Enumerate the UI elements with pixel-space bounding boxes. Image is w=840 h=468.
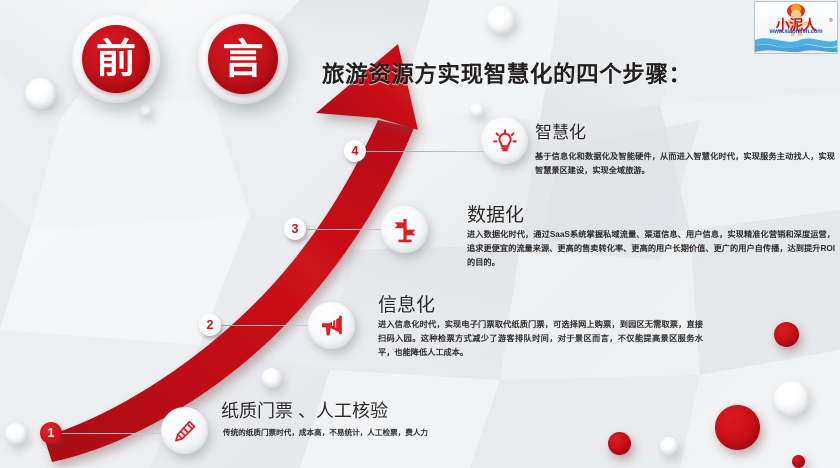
badge-yan-char: 言 [208, 24, 278, 94]
step-title-1: 纸质门票 、人工核验 [221, 397, 388, 423]
step-number-2-label: 2 [207, 318, 214, 332]
step-title-3: 数据化 [467, 200, 524, 227]
lightbulb-icon [491, 127, 519, 155]
step-icon-3[interactable] [381, 206, 428, 253]
step-desc-4: 基于信息化和数据化及智能硬件，从而进入智慧化时代，实现服务主动找人，实现智慧景区… [535, 150, 835, 178]
badge-qian-char: 前 [82, 25, 150, 93]
step-desc-1: 传统的纸质门票时代，成本高，不易统计，人工检票，费人力 [223, 427, 523, 439]
decor-sphere-red-4 [792, 455, 805, 468]
step-icon-4[interactable] [481, 117, 528, 164]
decor-sphere-white-2 [25, 78, 56, 109]
badge-qian: 前 [72, 15, 160, 103]
decor-sphere-white-5 [262, 368, 282, 388]
decor-sphere-white-7 [774, 381, 809, 416]
decor-sphere-red-3 [608, 432, 631, 455]
connector-line-1 [62, 433, 166, 434]
decor-sphere-red-1 [774, 322, 799, 347]
connector-line-4 [366, 151, 496, 152]
pencil-icon [172, 418, 198, 444]
badge-yan: 言 [198, 14, 288, 104]
decor-sphere-white-3 [470, 103, 484, 117]
connector-line-3 [306, 229, 390, 230]
step-desc-3: 进入数据化时代，通过SaaS系统掌握私域流量、渠道信息、用户信息，实现精准化营销… [467, 228, 835, 270]
step-number-1-label: 1 [48, 426, 55, 440]
step-icon-2[interactable] [308, 302, 355, 349]
decor-sphere-white-4 [139, 104, 152, 117]
step-title-2: 信息化 [378, 290, 435, 317]
slide-canvas: 前 言 旅游资源方实现智慧化的四个步骤： ® 小泥人 www.xiaoniren… [0, 0, 840, 468]
step-number-3-label: 3 [292, 222, 299, 236]
step-desc-2: 进入信息化时代，实现电子门票取代纸质门票，可选择网上购票，到园区无需取票，直接扫… [378, 318, 703, 360]
step-number-4[interactable]: 4 [344, 140, 366, 162]
decor-sphere-white-6 [5, 423, 27, 445]
step-icon-1[interactable] [161, 407, 208, 454]
brand-logo[interactable]: ® 小泥人 www.xiaoniren.com [754, 1, 838, 54]
decor-sphere-white-8 [660, 437, 678, 455]
logo-url: www.xiaoniren.com [755, 29, 837, 35]
step-title-4: 智慧化 [535, 118, 586, 143]
step-number-3[interactable]: 3 [284, 218, 306, 240]
decor-sphere-white-1 [487, 6, 515, 34]
step-number-2[interactable]: 2 [199, 314, 221, 336]
step-number-1[interactable]: 1 [40, 422, 62, 444]
megaphone-icon [318, 312, 345, 339]
step-number-4-label: 4 [352, 144, 359, 158]
page-title: 旅游资源方实现智慧化的四个步骤： [322, 57, 692, 89]
signpost-icon [392, 217, 418, 243]
decor-sphere-red-2 [715, 405, 760, 450]
connector-line-2 [221, 325, 316, 326]
